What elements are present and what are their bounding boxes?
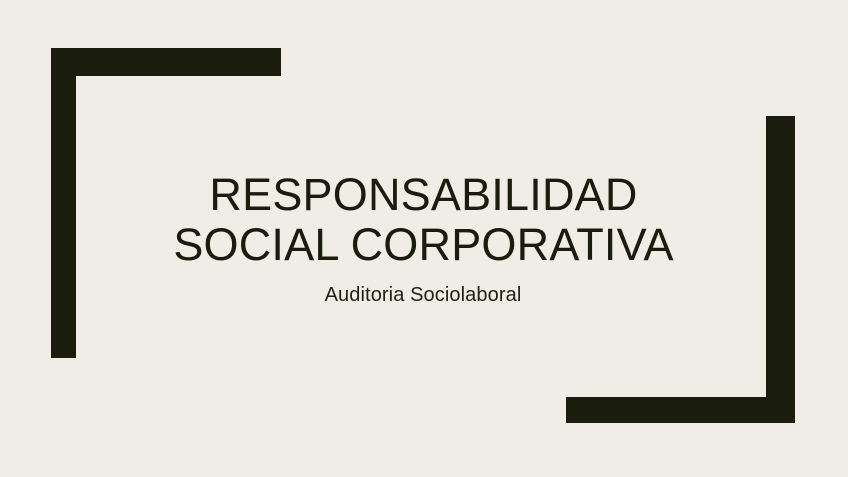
top-left-bracket-vertical-bar xyxy=(51,48,76,358)
title-slide: RESPONSABILIDAD SOCIAL CORPORATIVA Audit… xyxy=(0,0,848,477)
slide-title-line-2: SOCIAL CORPORATIVA xyxy=(74,220,774,270)
bottom-right-bracket-horizontal-bar xyxy=(566,397,795,423)
slide-title-line-1: RESPONSABILIDAD xyxy=(74,170,774,220)
slide-subtitle: Auditoria Sociolaboral xyxy=(325,283,522,307)
bottom-right-bracket-vertical-bar xyxy=(766,116,795,423)
top-left-bracket-horizontal-bar xyxy=(51,48,281,76)
slide-title: RESPONSABILIDAD SOCIAL CORPORATIVA xyxy=(74,170,774,270)
